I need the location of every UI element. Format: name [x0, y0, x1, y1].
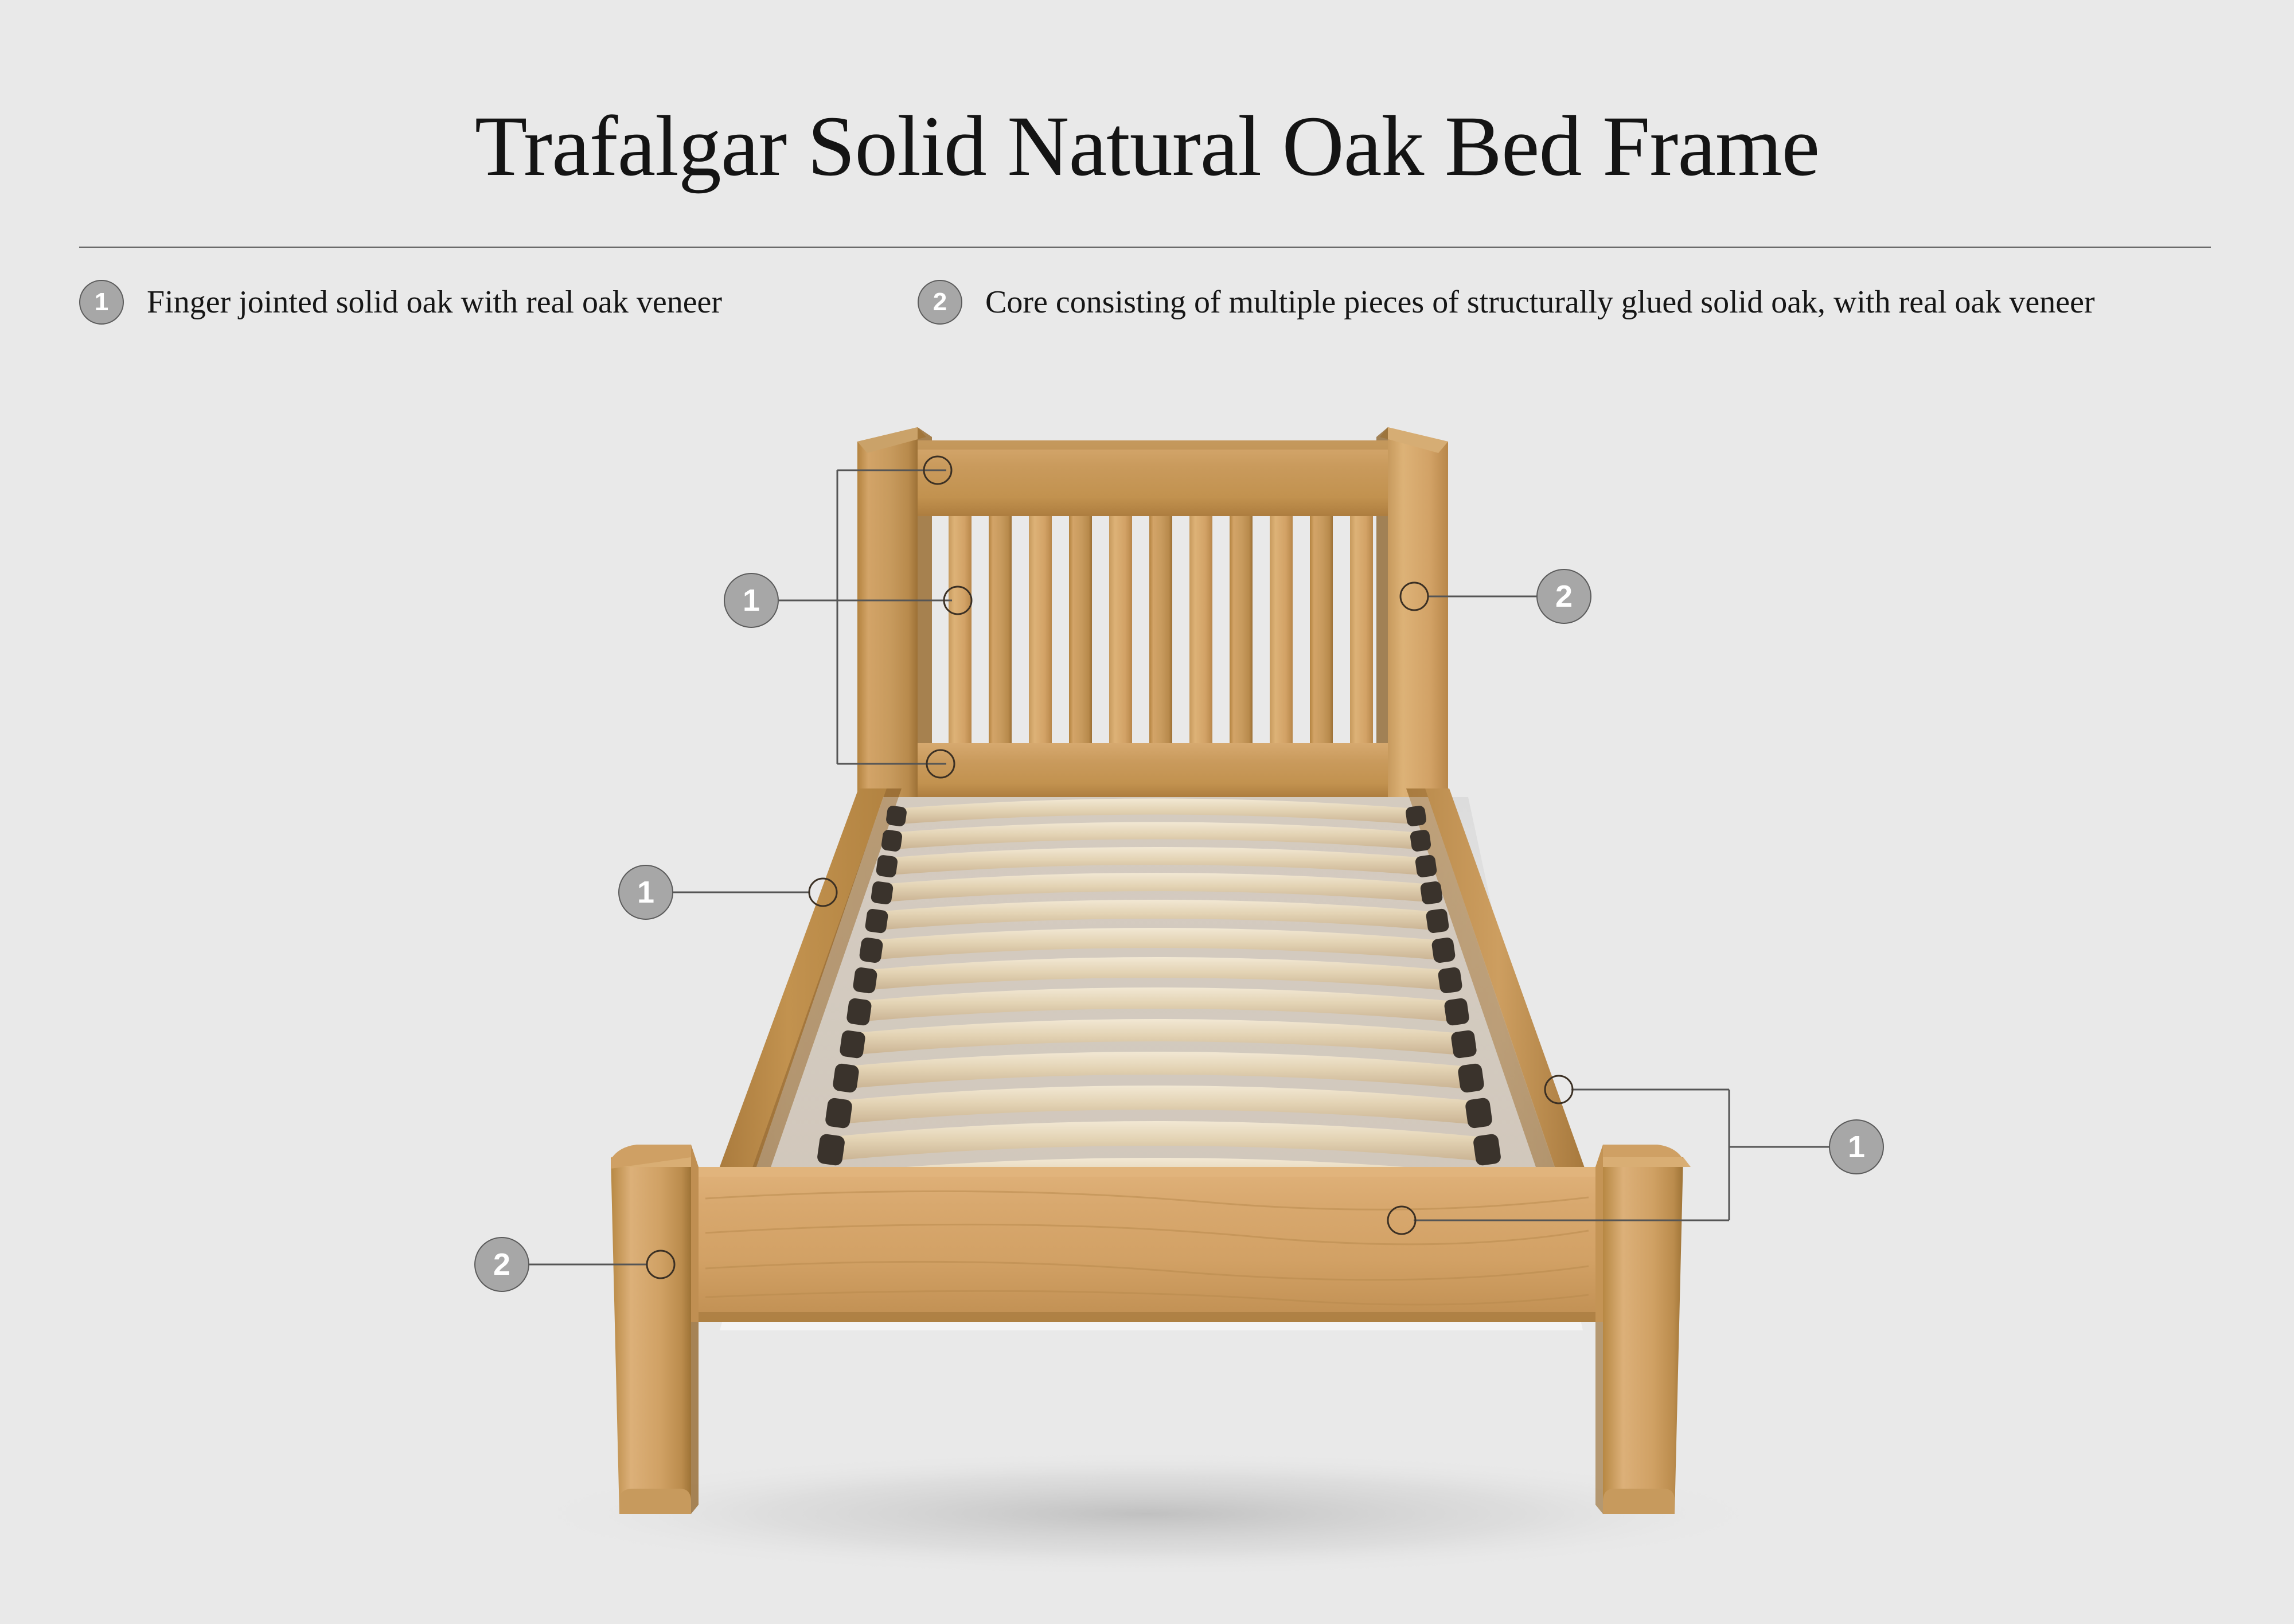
headboard-top-rail — [918, 440, 1388, 516]
footboard-panel — [699, 1167, 1595, 1322]
diagram-canvas: Trafalgar Solid Natural Oak Bed Frame 1 … — [0, 0, 2294, 1624]
foot-left-leg — [611, 1145, 699, 1514]
headboard-bottom-rail — [918, 743, 1388, 797]
foot-left-corner-block — [691, 1145, 699, 1322]
callout-badge-foot-rail-right[interactable]: 1 — [1829, 1119, 1884, 1174]
callout-badge-side-rail-left[interactable]: 1 — [618, 865, 673, 920]
callout-badge-headboard-right[interactable]: 2 — [1536, 569, 1591, 624]
headboard-slats — [949, 516, 1373, 743]
floor-shadow — [516, 1451, 1778, 1577]
leader-side-rail-left — [673, 879, 837, 906]
callout-badge-headboard-left[interactable]: 1 — [724, 573, 779, 628]
foot-right-corner-block — [1595, 1145, 1603, 1322]
foot-right-leg — [1595, 1145, 1691, 1514]
bed-frame-illustration — [0, 0, 2294, 1624]
callout-badge-leg-left[interactable]: 2 — [474, 1237, 529, 1292]
